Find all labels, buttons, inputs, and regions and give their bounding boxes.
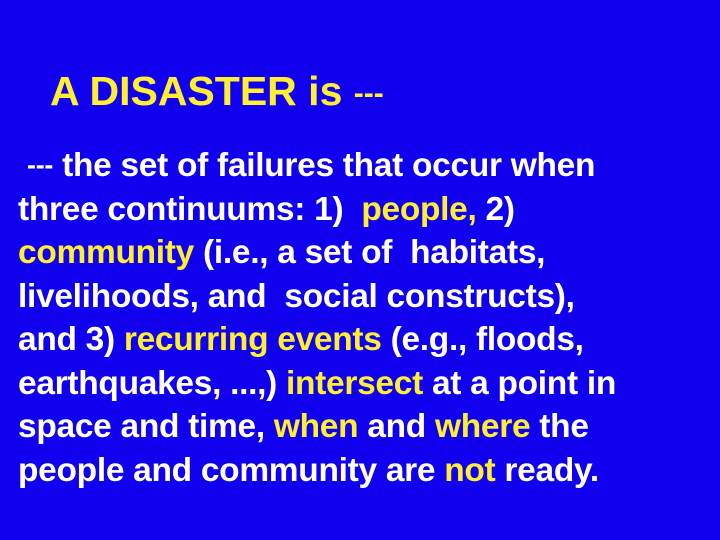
highlighted-term: people, — [361, 191, 476, 228]
body-text-segment: three continuums: 1) — [18, 191, 361, 228]
highlighted-term: recurring events — [124, 321, 382, 358]
body-text-segment: and 3) — [18, 321, 124, 358]
body-text-segment: (e.g., floods, — [382, 321, 584, 358]
body-line: livelihoods, and social constructs), — [18, 275, 708, 319]
highlighted-term: when — [274, 408, 358, 445]
body-text-segment: (i.e., a set of habitats, — [194, 234, 545, 271]
body-text-segment: and — [358, 408, 435, 445]
body-line: people and community are not ready. — [18, 449, 708, 493]
slide-title: A DISASTER is --- — [50, 68, 384, 117]
body-text-segment: at a point in — [423, 365, 616, 402]
body-text-segment: ready. — [495, 452, 598, 489]
presentation-slide: A DISASTER is --- --- the set of failure… — [0, 0, 720, 540]
body-line: and 3) recurring events (e.g., floods, — [18, 318, 708, 362]
body-text-segment: the — [530, 408, 588, 445]
body-text-segment: the set of failures that occur when — [53, 147, 595, 184]
highlighted-term: not — [444, 452, 495, 489]
body-text-segment: people and community are — [18, 452, 444, 489]
slide-title-lead: A DISASTER is — [50, 68, 354, 114]
body-line: --- the set of failures that occur when — [18, 144, 708, 188]
body-line: three continuums: 1) people, 2) — [18, 188, 708, 232]
slide-body-text: --- the set of failures that occur whent… — [18, 144, 708, 492]
slide-title-dashes: --- — [354, 77, 384, 110]
body-text-segment: 2) — [477, 191, 515, 228]
body-line: space and time, when and where the — [18, 405, 708, 449]
body-text-segment: livelihoods, and social constructs), — [18, 278, 575, 315]
leading-dashes: --- — [27, 150, 53, 180]
highlighted-term: intersect — [286, 365, 423, 402]
body-text-segment: earthquakes, ...,) — [18, 365, 286, 402]
highlighted-term: community — [18, 234, 194, 271]
body-text-segment — [18, 147, 27, 184]
highlighted-term: where — [435, 408, 530, 445]
body-line: earthquakes, ...,) intersect at a point … — [18, 362, 708, 406]
body-line: community (i.e., a set of habitats, — [18, 231, 708, 275]
body-text-segment: space and time, — [18, 408, 274, 445]
